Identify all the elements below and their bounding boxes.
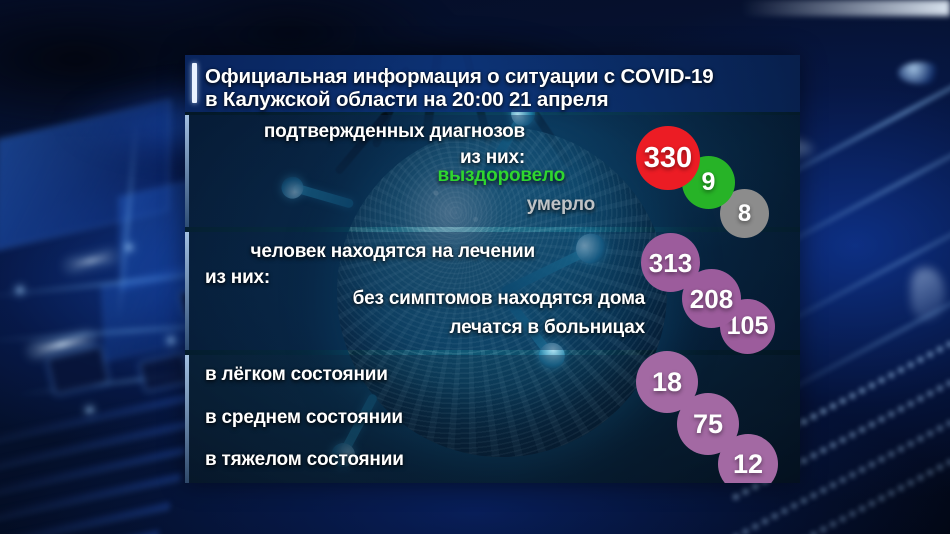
page-title-line2: в Калужской области на 20:00 21 апреля bbox=[205, 88, 608, 112]
label-confirmed-diagnoses: подтвержденных диагнозов bbox=[205, 121, 525, 143]
background-top-highlight bbox=[741, 0, 950, 16]
label-of-which-2: из них: bbox=[205, 267, 305, 289]
label-severe-condition: в тяжелом состоянии bbox=[205, 449, 465, 471]
label-died: умерло bbox=[385, 194, 595, 216]
covid-info-panel: Официальная информация о ситуации с COVI… bbox=[185, 55, 800, 483]
label-treated-in-hospitals: лечатся в больницах bbox=[245, 317, 645, 339]
page-title-line1: Официальная информация о ситуации с COVI… bbox=[205, 65, 713, 89]
band-left-edge bbox=[185, 232, 189, 350]
band-left-edge bbox=[185, 115, 189, 227]
value-bubble-mild: 18 bbox=[636, 351, 698, 413]
title-accent-bar bbox=[192, 63, 197, 103]
value-bubble-treatment: 313 bbox=[641, 233, 700, 292]
value-bubble-confirmed: 330 bbox=[636, 126, 700, 190]
label-mild-condition: в лёгком состоянии bbox=[205, 364, 445, 386]
label-recovered: выздоровело bbox=[365, 165, 565, 187]
circuit-board-right bbox=[779, 32, 950, 523]
label-under-treatment: человек находятся на лечении bbox=[205, 241, 535, 263]
label-asymptomatic-at-home: без симптомов находятся дома bbox=[245, 288, 645, 310]
band-left-edge bbox=[185, 355, 189, 483]
label-moderate-condition: в среднем состоянии bbox=[205, 407, 465, 429]
